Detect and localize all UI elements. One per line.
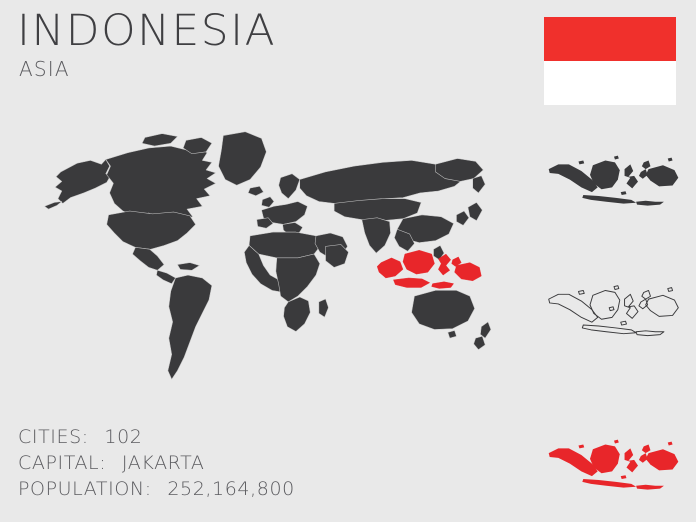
shape-java (582, 195, 636, 204)
shape-sumatra (549, 164, 598, 192)
indonesia-papua (455, 263, 482, 281)
red-lesser-sunda (636, 485, 664, 490)
indonesia-java (393, 278, 429, 288)
shape-halmahera (642, 160, 651, 169)
indonesia-kalimantan (403, 250, 435, 274)
region-arctic-islands (142, 134, 177, 146)
flag-red-band (544, 17, 676, 61)
world-map (34, 126, 512, 406)
region-greenland (219, 132, 267, 186)
shape-papua (646, 165, 679, 186)
stat-row-population: POPULATION: 252,164,800 (18, 476, 488, 502)
shape-sulawesi (625, 164, 638, 188)
shape-islet-4 (621, 191, 627, 195)
country-shape-red (540, 432, 688, 504)
region-mexico (133, 247, 165, 270)
region-scandinavia (279, 174, 300, 199)
red-maluku (639, 453, 648, 463)
stat-value-capital: JAKARTA (122, 452, 205, 474)
region-british-isles (262, 197, 274, 208)
region-korea-japan (456, 211, 468, 225)
header: INDONESIA ASIA (17, 8, 497, 81)
shape-islet-1 (578, 160, 584, 164)
continent-subtitle: ASIA (19, 57, 497, 81)
region-alaska (55, 159, 110, 203)
country-infographic: INDONESIA ASIA (0, 0, 696, 522)
region-north-africa (249, 232, 321, 258)
region-kamchatka (473, 176, 485, 193)
outline-islet-4 (621, 321, 627, 325)
country-shape-outline (540, 278, 688, 350)
indonesia-lesser-sunda (432, 282, 454, 289)
region-central-asia (334, 199, 421, 221)
outline-kalimantan (590, 290, 620, 319)
region-india (362, 218, 391, 253)
region-japan (468, 202, 482, 220)
red-java (582, 479, 636, 488)
region-aleutians (45, 201, 62, 209)
outline-islet-3 (609, 307, 614, 311)
world-map-svg (34, 126, 512, 406)
outline-islet-1 (578, 290, 584, 294)
region-central-africa (276, 254, 320, 302)
flag-white-band (544, 61, 676, 105)
outline-sumatra (549, 294, 598, 322)
shape-maluku (639, 169, 648, 179)
country-shape-red-svg (540, 432, 688, 504)
region-united-states (107, 211, 196, 249)
region-south-america (168, 275, 212, 379)
red-islet-2 (614, 440, 619, 444)
stat-value-cities: 102 (104, 426, 142, 448)
region-southern-africa (284, 297, 311, 331)
region-new-zealand (480, 322, 491, 338)
red-islet-1 (578, 444, 584, 448)
outline-lesser-sunda (636, 331, 664, 336)
stat-label-population: POPULATION: (18, 478, 152, 500)
red-papua (646, 449, 679, 470)
region-madagascar (319, 299, 329, 317)
red-halmahera (642, 444, 651, 453)
page-title: INDONESIA (17, 8, 507, 54)
indonesia-sumatra (377, 258, 403, 278)
stat-value-population: 252,164,800 (167, 478, 294, 500)
shape-islet-5 (668, 158, 673, 162)
outline-sulawesi (625, 294, 638, 318)
region-central-america (156, 270, 175, 283)
stat-row-capital: CAPITAL: JAKARTA (18, 450, 488, 476)
region-iceland (248, 186, 263, 196)
region-canada (106, 146, 216, 220)
highlighted-country-indonesia (377, 250, 481, 288)
red-sumatra (549, 448, 598, 476)
red-islet-5 (668, 442, 673, 446)
outline-halmahera (642, 290, 651, 299)
outline-papua (646, 295, 679, 316)
country-shape-solid (540, 148, 688, 220)
outline-islet-2 (614, 286, 619, 290)
stat-label-cities: CITIES: (18, 426, 89, 448)
country-shape-outline-svg (540, 278, 688, 350)
region-australia (412, 290, 475, 329)
stat-label-capital: CAPITAL: (18, 452, 106, 474)
flag-of-indonesia (544, 17, 676, 105)
stat-row-cities: CITIES: 102 (18, 424, 488, 450)
shape-islet-2 (614, 156, 619, 160)
shape-lesser-sunda (636, 201, 664, 206)
country-shape-solid-svg (540, 148, 688, 220)
region-tasmania (448, 331, 457, 339)
region-caribbean (177, 263, 199, 271)
outline-java (582, 325, 636, 334)
red-islet-4 (621, 475, 627, 479)
outline-islet-5 (668, 288, 673, 292)
red-sulawesi (625, 448, 638, 472)
region-new-zealand-south (474, 336, 485, 349)
country-stats: CITIES: 102 CAPITAL: JAKARTA POPULATION:… (18, 424, 488, 502)
